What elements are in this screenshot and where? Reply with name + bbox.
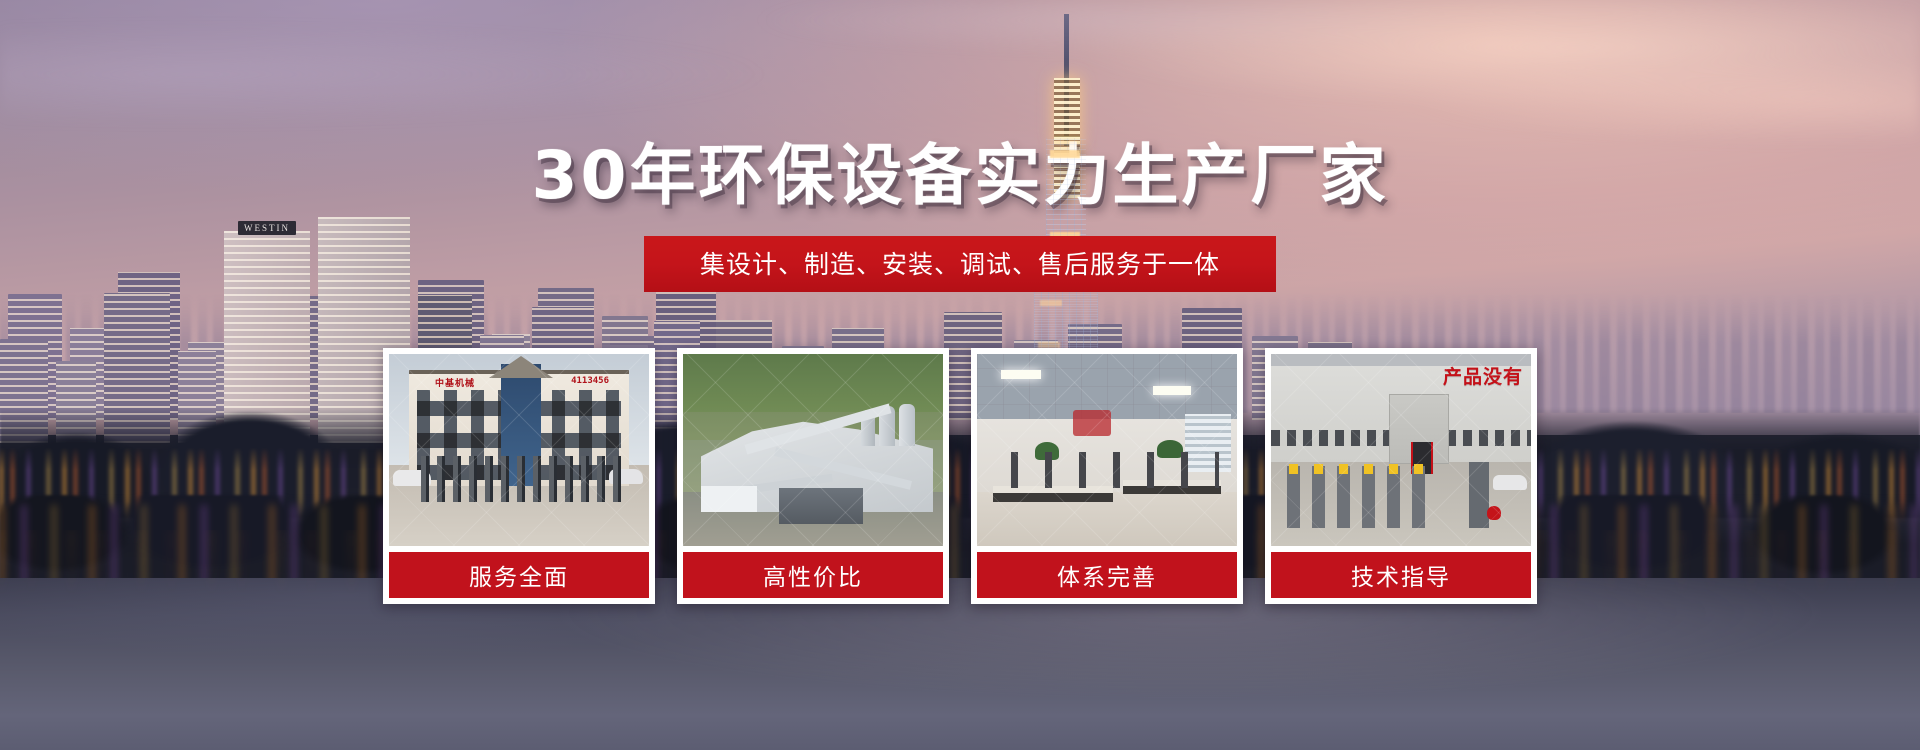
photo3-wall-logo [1073,410,1111,436]
photo3-ceiling-light-2 [1153,386,1191,395]
card-label-value: 高性价比 [683,552,943,598]
westin-sign: WESTIN [238,221,296,235]
photo1-staff-lineup [417,456,627,502]
photo2-warehouse [701,486,757,512]
photo3-employees [999,452,1219,488]
card-label-text: 服务全面 [469,558,569,592]
photo3-desk-1 [993,493,1113,502]
card-label-system: 体系完善 [977,552,1237,598]
card-photo-office-building: 中基机械 4113456 [389,354,649,546]
feature-card-system[interactable]: 体系完善 [971,348,1243,604]
card-label-service: 服务全面 [389,552,649,598]
feature-card-value[interactable]: 高性价比 [677,348,949,604]
card-label-text: 高性价比 [763,558,863,592]
photo2-silo-2 [899,404,915,446]
card-photo-office-interior [977,354,1237,546]
photo4-worker-lineup [1283,466,1429,528]
feature-card-row: 中基机械 4113456 服务全面 [383,348,1537,604]
hero-banner: WESTIN 30年环保设备实力生产厂家 集设计、制造、 [0,0,1920,750]
photo4-wall-slogan: 产品没有 [1443,362,1523,389]
photo3-ceiling-light-1 [1001,370,1041,379]
card-label-text: 技术指导 [1351,558,1451,592]
card-label-guidance: 技术指导 [1271,552,1531,598]
photo4-supervisor [1469,462,1489,528]
feature-card-guidance[interactable]: 产品没有 技术指导 [1265,348,1537,604]
photo2-loading-shed [779,488,863,524]
card-photo-workers-factory: 产品没有 [1271,354,1531,546]
photo1-company-signage: 中基机械 [435,376,475,389]
photo4-red-helmet [1487,506,1501,520]
feature-card-service[interactable]: 中基机械 4113456 服务全面 [383,348,655,604]
subtitle-banner: 集设计、制造、安装、调试、售后服务于一体 [644,236,1276,292]
banner-subtitle: 集设计、制造、安装、调试、售后服务于一体 [700,250,1220,279]
photo4-hardhats [1283,464,1429,474]
photo4-car [1493,475,1527,490]
card-label-text: 体系完善 [1057,558,1157,592]
photo1-phone-number: 4113456 [571,376,609,386]
card-photo-plant-aerial [683,354,943,546]
